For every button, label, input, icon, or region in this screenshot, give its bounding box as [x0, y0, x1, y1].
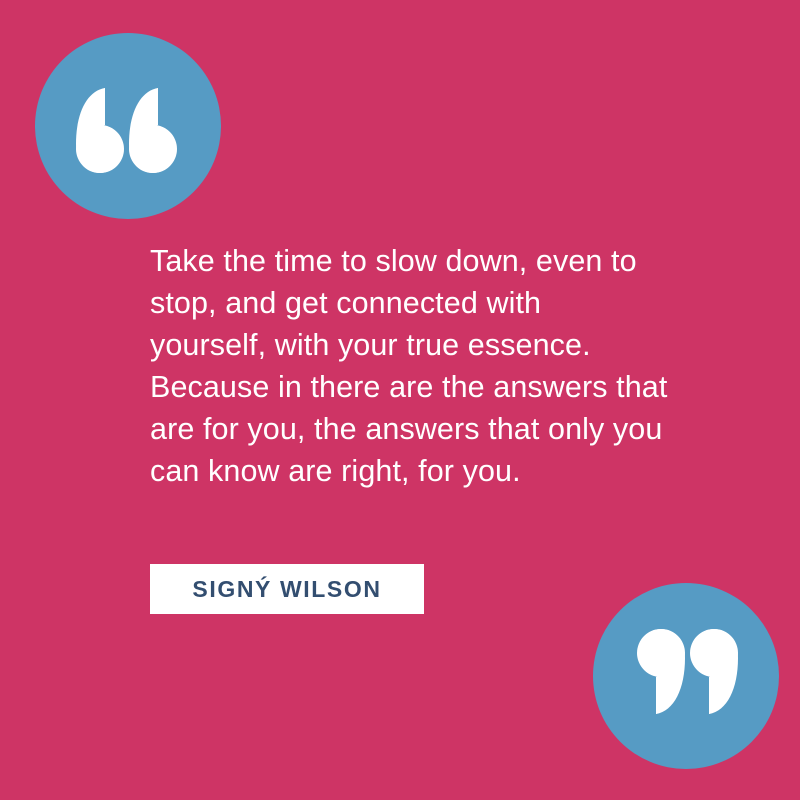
open-quote-icon — [35, 33, 221, 219]
author-badge: SIGNÝ WILSON — [150, 564, 424, 614]
close-quote-circle — [593, 583, 779, 769]
open-quote-circle — [35, 33, 221, 219]
close-quote-icon — [593, 583, 779, 769]
quote-text: Take the time to slow down, even to stop… — [150, 240, 690, 492]
quote-card: Take the time to slow down, even to stop… — [0, 0, 800, 800]
author-name: SIGNÝ WILSON — [192, 576, 381, 603]
